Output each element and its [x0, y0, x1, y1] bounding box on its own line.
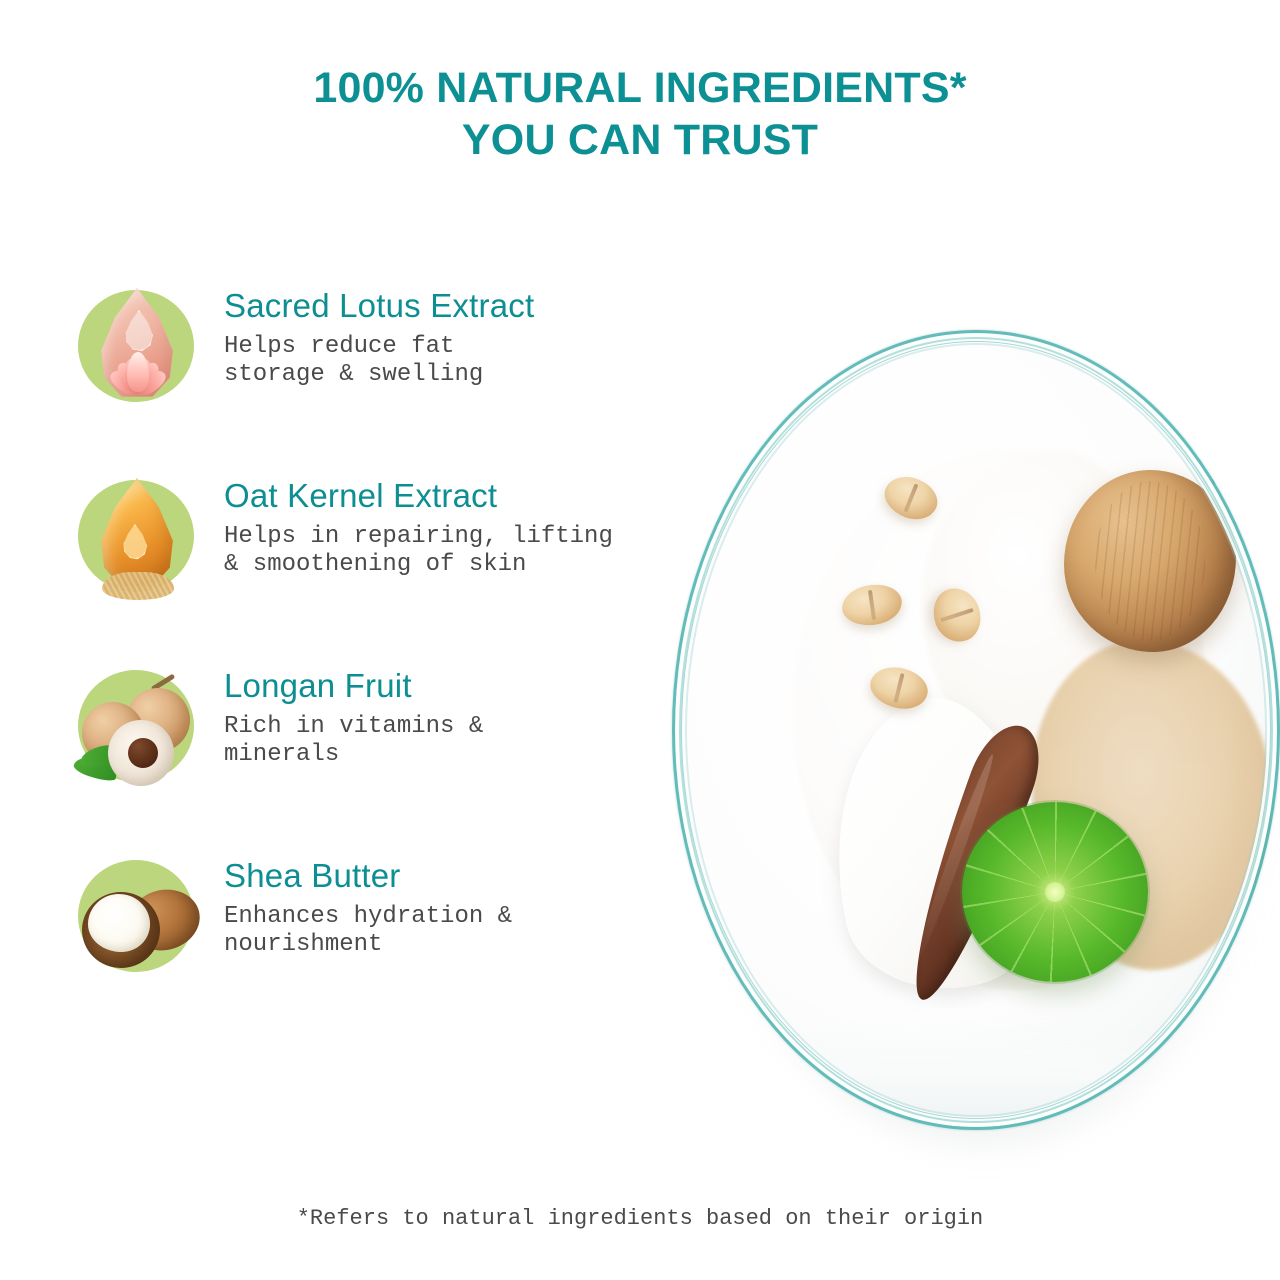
dish-rim-inner: [681, 341, 1271, 1119]
lotus-droplet-icon: [72, 282, 204, 414]
page-title: 100% NATURAL INGREDIENTS* YOU CAN TRUST: [0, 62, 1280, 166]
lotus-flower: [98, 340, 178, 398]
ingredient-name: Longan Fruit: [224, 666, 714, 706]
ingredient-name: Oat Kernel Extract: [224, 476, 714, 516]
oat-oil-droplet-icon: [72, 472, 204, 604]
infographic-page: 100% NATURAL INGREDIENTS* YOU CAN TRUST: [0, 0, 1280, 1280]
headline-line-1: 100% NATURAL INGREDIENTS*: [313, 64, 966, 112]
longan-seed: [128, 738, 158, 768]
ingredient-description: Enhances hydration & nourishment: [224, 903, 714, 959]
ingredient-list: Sacred Lotus Extract Helps reduce fat st…: [72, 282, 712, 1042]
product-photo: [672, 330, 1280, 1180]
ingredient-text: Oat Kernel Extract Helps in repairing, l…: [224, 476, 714, 579]
longan-fruit-icon: [72, 662, 204, 794]
ingredient-text: Shea Butter Enhances hydration & nourish…: [224, 856, 714, 959]
list-item: Sacred Lotus Extract Helps reduce fat st…: [72, 282, 712, 472]
headline-line-2: YOU CAN TRUST: [0, 114, 1280, 166]
ingredient-text: Sacred Lotus Extract Helps reduce fat st…: [224, 286, 714, 389]
footnote: *Refers to natural ingredients based on …: [0, 1206, 1280, 1231]
shea-butter-cream: [88, 894, 150, 952]
ingredient-description: Rich in vitamins & minerals: [224, 713, 714, 769]
list-item: Oat Kernel Extract Helps in repairing, l…: [72, 472, 712, 662]
list-item: Shea Butter Enhances hydration & nourish…: [72, 852, 712, 1042]
shea-nut-icon: [72, 852, 204, 984]
ingredient-name: Sacred Lotus Extract: [224, 286, 714, 326]
ingredient-description: Helps in repairing, lifting & smoothenin…: [224, 523, 714, 579]
oat-grains: [102, 572, 174, 600]
ingredient-description: Helps reduce fat storage & swelling: [224, 333, 714, 389]
ingredient-name: Shea Butter: [224, 856, 714, 896]
ingredient-text: Longan Fruit Rich in vitamins & minerals: [224, 666, 714, 769]
list-item: Longan Fruit Rich in vitamins & minerals: [72, 662, 712, 852]
